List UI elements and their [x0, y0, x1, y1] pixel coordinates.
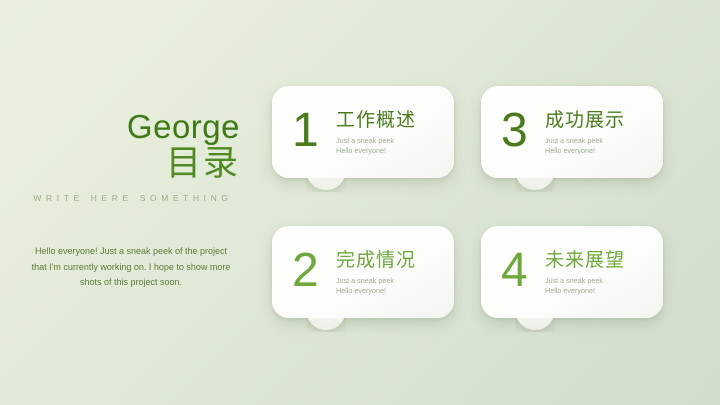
toc-card-2-number: 2	[292, 247, 336, 295]
toc-card-1[interactable]: 1 工作概述 Just a sneak peek Hello everyone!	[272, 86, 454, 178]
toc-card-4-texts: 未来展望 Just a sneak peek Hello everyone!	[545, 249, 649, 295]
toc-card-2-sub-line2: Hello everyone!	[336, 286, 440, 296]
toc-card-1-number: 1	[292, 107, 336, 155]
toc-card-1-sub-line1: Just a sneak peek	[336, 136, 440, 146]
toc-card-2[interactable]: 2 完成情况 Just a sneak peek Hello everyone!	[272, 226, 454, 318]
toc-card-4-subtext: Just a sneak peek Hello everyone!	[545, 276, 649, 295]
toc-card-3-texts: 成功展示 Just a sneak peek Hello everyone!	[545, 109, 649, 155]
toc-card-2-sub-line1: Just a sneak peek	[336, 276, 440, 286]
toc-card-3[interactable]: 3 成功展示 Just a sneak peek Hello everyone!	[481, 86, 663, 178]
toc-card-3-subtext: Just a sneak peek Hello everyone!	[545, 136, 649, 155]
toc-card-4-sub-line1: Just a sneak peek	[545, 276, 649, 286]
toc-card-2-subtext: Just a sneak peek Hello everyone!	[336, 276, 440, 295]
toc-card-4-sub-line2: Hello everyone!	[545, 286, 649, 296]
left-heading-block: George 目录 WRITE HERE SOMETHING	[18, 108, 240, 203]
toc-card-2-texts: 完成情况 Just a sneak peek Hello everyone!	[336, 249, 440, 295]
tagline: WRITE HERE SOMETHING	[18, 193, 240, 203]
toc-card-4[interactable]: 4 未来展望 Just a sneak peek Hello everyone!	[481, 226, 663, 318]
page-title-cn: 目录	[18, 144, 240, 184]
toc-card-1-texts: 工作概述 Just a sneak peek Hello everyone!	[336, 109, 440, 155]
toc-card-3-sub-line2: Hello everyone!	[545, 146, 649, 156]
toc-card-2-heading: 完成情况	[336, 249, 440, 272]
body-paragraph: Hello everyone! Just a sneak peek of the…	[28, 244, 234, 291]
toc-card-4-inner: 4 未来展望 Just a sneak peek Hello everyone!	[481, 226, 663, 318]
toc-card-3-inner: 3 成功展示 Just a sneak peek Hello everyone!	[481, 86, 663, 178]
toc-card-4-heading: 未来展望	[545, 249, 649, 272]
toc-card-4-number: 4	[501, 247, 545, 295]
toc-card-1-subtext: Just a sneak peek Hello everyone!	[336, 136, 440, 155]
page-title-en: George	[18, 108, 240, 146]
toc-card-3-heading: 成功展示	[545, 109, 649, 132]
toc-card-3-sub-line1: Just a sneak peek	[545, 136, 649, 146]
toc-card-1-sub-line2: Hello everyone!	[336, 146, 440, 156]
slide-canvas: George 目录 WRITE HERE SOMETHING Hello eve…	[0, 0, 720, 405]
toc-card-1-heading: 工作概述	[336, 109, 440, 132]
toc-card-1-inner: 1 工作概述 Just a sneak peek Hello everyone!	[272, 86, 454, 178]
toc-card-3-number: 3	[501, 107, 545, 155]
toc-card-2-inner: 2 完成情况 Just a sneak peek Hello everyone!	[272, 226, 454, 318]
